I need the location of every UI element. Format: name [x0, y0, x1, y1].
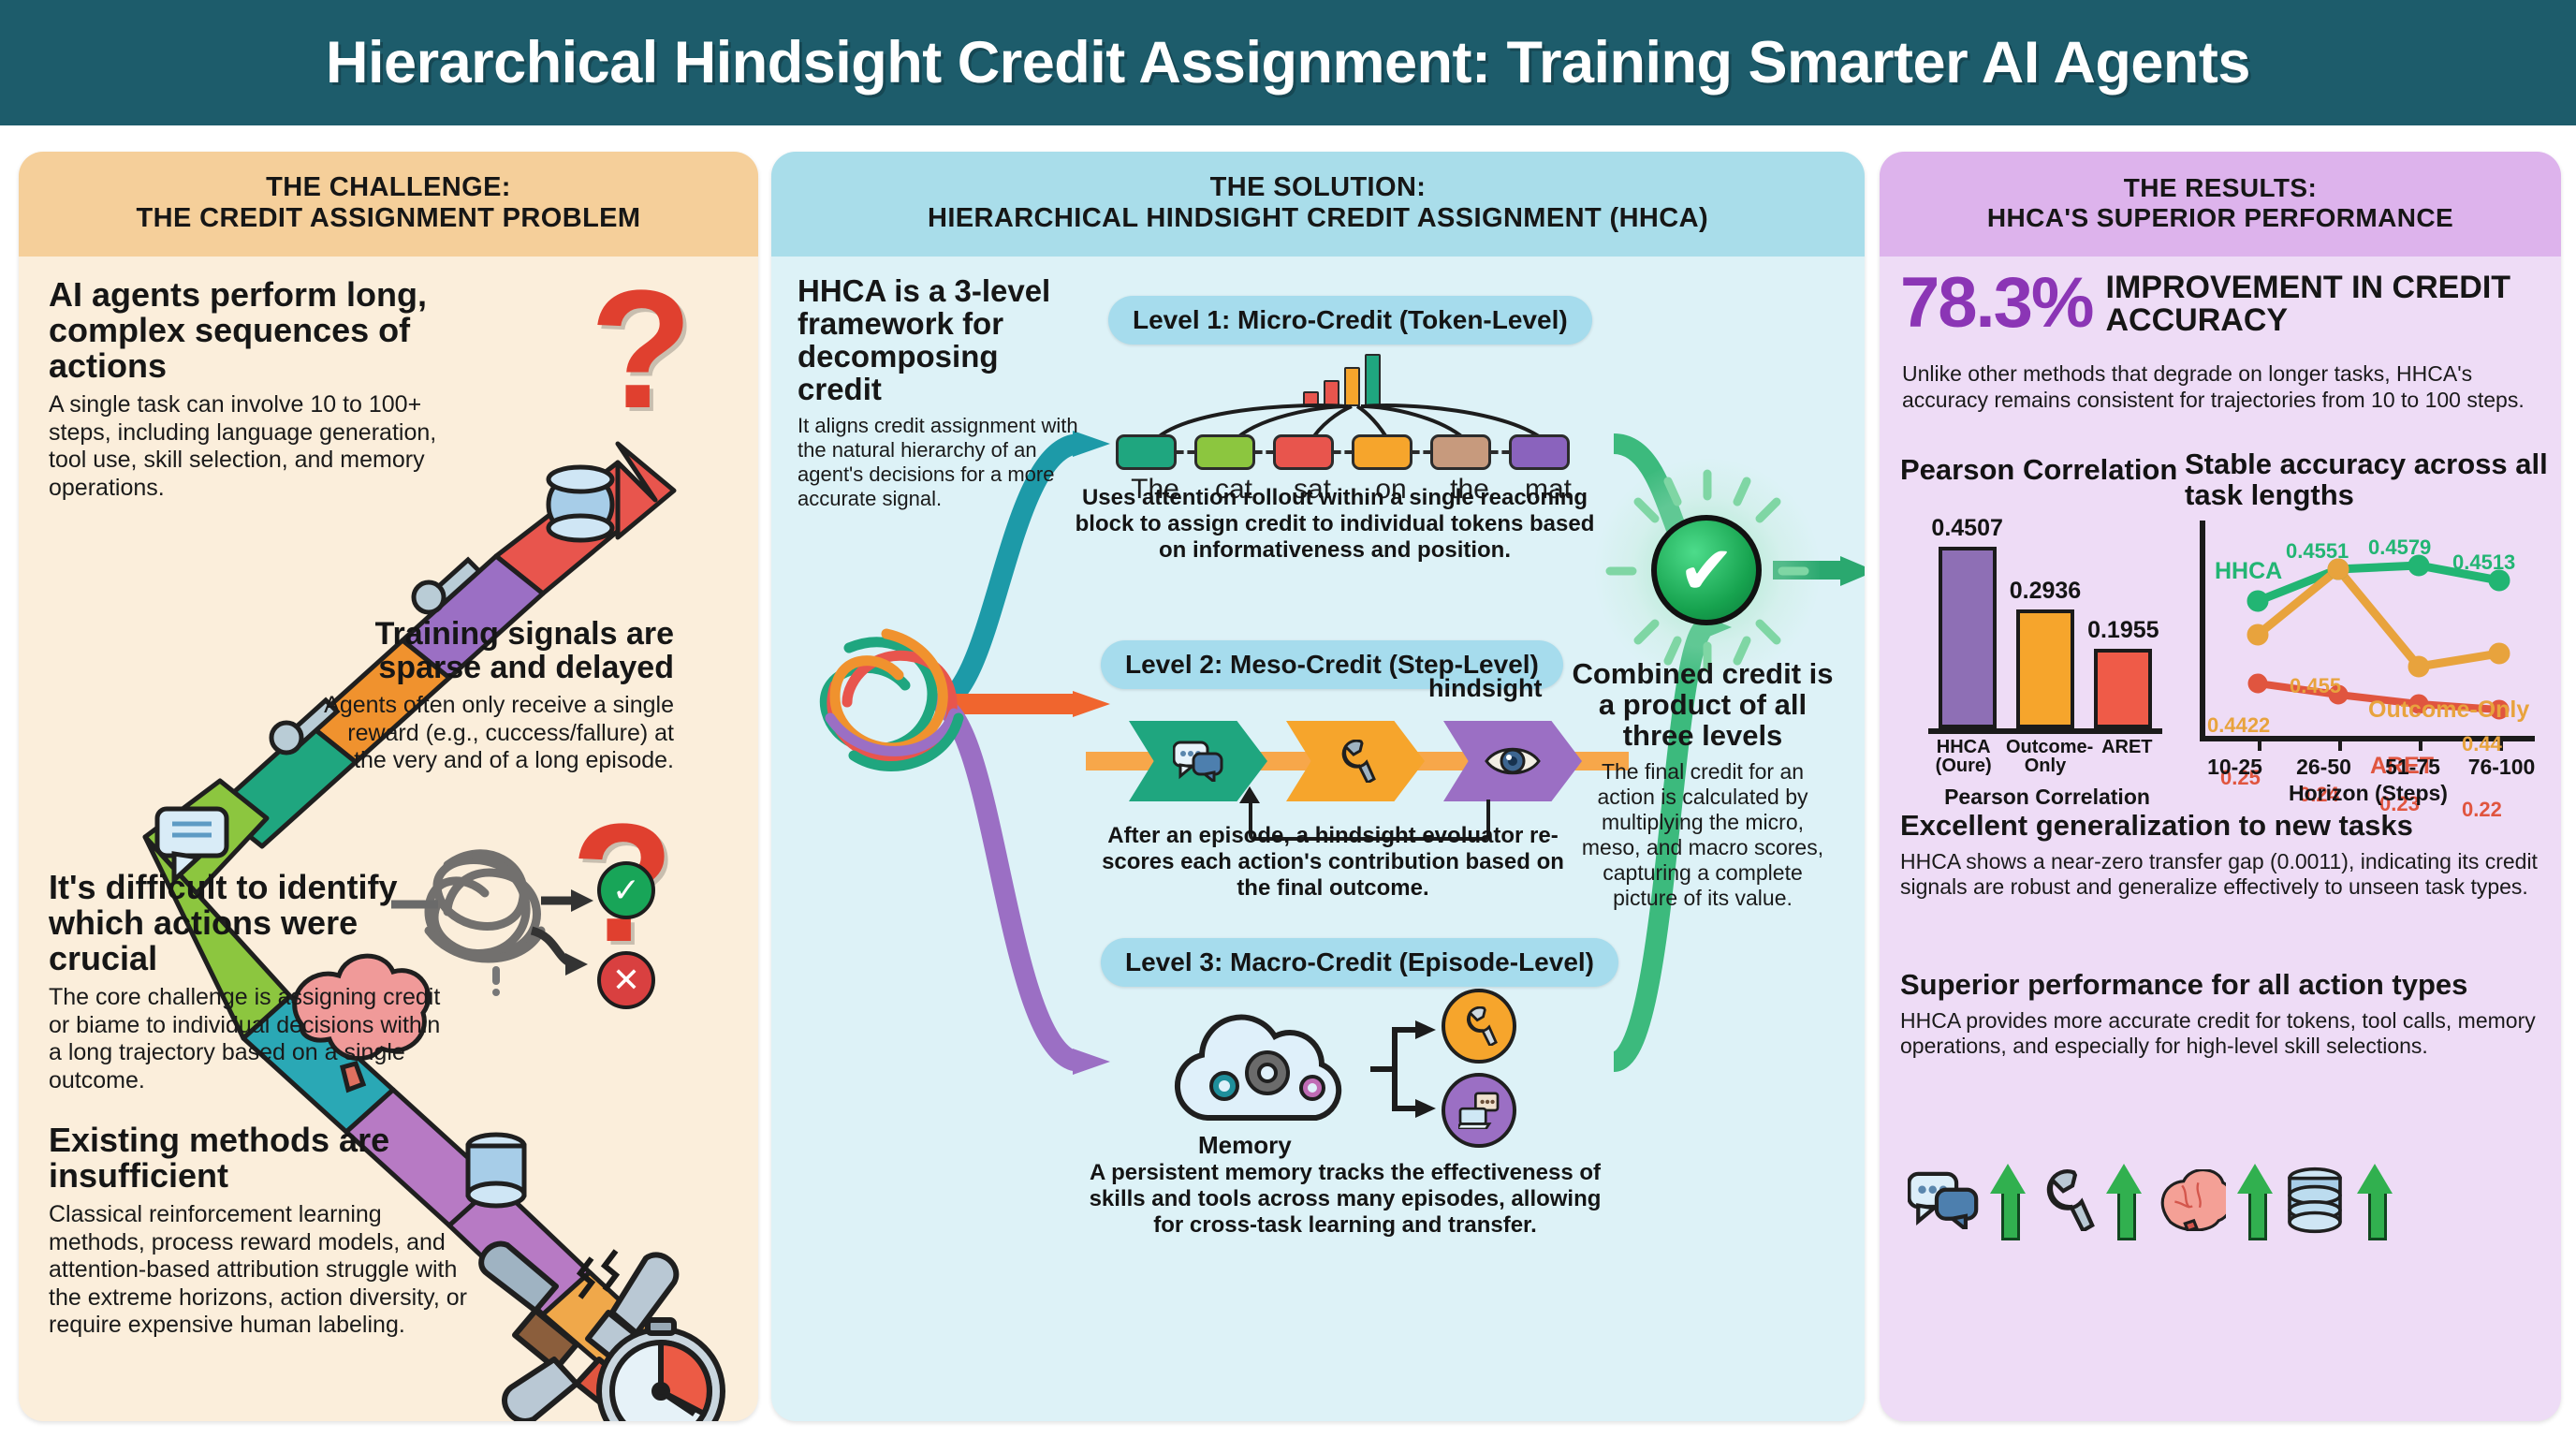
level-1-caption: Uses attention rollout within a single r… — [1073, 485, 1597, 563]
page-title: Hierarchical Hindsight Credit Assignment… — [326, 29, 2250, 96]
check-circle-icon: ✓ — [597, 861, 655, 919]
speech-bubble-icon — [1908, 1171, 1979, 1229]
challenge-block-2: Training signals are sparse and delayed … — [316, 617, 674, 775]
panel-challenge-title-line1: THE CHALLENGE: — [266, 172, 511, 203]
hindsight-feedback-arrowhead — [1239, 786, 1260, 803]
bar-value-label: 0.1955 — [2087, 617, 2159, 644]
challenge-block-2-body: Agents often only receive a single rewar… — [316, 692, 674, 775]
attention-minibars — [1303, 354, 1381, 406]
token-chip — [1352, 434, 1412, 470]
results-block-1-body: HHCA shows a near-zero transfer gap (0.0… — [1900, 849, 2550, 900]
x-circle-icon: ✕ — [597, 951, 655, 1009]
x-tick-label: 26-50 — [2279, 755, 2368, 780]
outcome-value-label: 0.44 — [2462, 732, 2502, 756]
memory-branch-arrows — [1367, 1013, 1442, 1125]
level-2-caption: After an episode, a hindsight evoluator … — [1090, 823, 1576, 901]
x-tick — [2258, 736, 2261, 751]
panel-solution: THE SOLUTION: HIERARCHICAL HINDSIGHT CRE… — [771, 152, 1865, 1421]
memory-label: Memory — [1198, 1131, 1292, 1160]
question-mark-icon-top: ? — [590, 266, 693, 434]
level-1-token-diagram: The cat sat on the mat — [1116, 354, 1612, 485]
token-link — [1334, 450, 1352, 454]
broken-tools-stopwatch-icon — [459, 1230, 739, 1421]
green-check-circle-icon: ✔ — [1651, 515, 1762, 625]
infographic-root: Hierarchical Hindsight Credit Assignment… — [0, 0, 2576, 1438]
x-tick-label: 76-100 — [2457, 755, 2546, 780]
token-chip — [1194, 434, 1255, 470]
panel-solution-body: HHCA is a 3-level framework for decompos… — [771, 257, 1865, 1421]
up-arrow-icon — [2110, 1166, 2138, 1235]
bar-category-label: HHCA (Oure) — [1925, 738, 2003, 776]
bar-category-label: ARET — [2087, 738, 2166, 776]
bar-chart-category-labels: HHCA (Oure) Outcome-Only ARET — [1923, 738, 2168, 776]
level-3-memory-diagram: Memory — [1108, 996, 1595, 1165]
challenge-block-1-heading: AI agents perform long, complex sequence… — [49, 277, 451, 384]
level-2-step-diagram: hindsight — [1129, 708, 1597, 820]
stat-value: 78.3% — [1900, 270, 2093, 337]
results-block-2: Superior performance for all action type… — [1900, 970, 2550, 1059]
speech-bubble-icon — [1173, 741, 1223, 782]
series-label-hhca: HHCA — [2215, 558, 2282, 585]
panel-results-header: THE RESULTS: HHCA'S SUPERIOR PERFORMANCE — [1880, 152, 2561, 257]
combined-credit-heading: Combined credit is a product of all thre… — [1572, 659, 1834, 752]
token-chip-row — [1116, 434, 1570, 470]
challenge-block-4: Existing methods are insufficient Classi… — [49, 1123, 470, 1340]
bar-value-label: 0.2936 — [2010, 578, 2081, 605]
x-tick-label: 10-25 — [2190, 755, 2279, 780]
database-icon — [2284, 1167, 2346, 1234]
tangled-threads-icon — [798, 610, 985, 798]
panel-challenge-header: THE CHALLENGE: THE CREDIT ASSIGNMENT PRO… — [19, 152, 758, 257]
line-chart-xlabel: Horizon (Steps) — [2190, 781, 2546, 806]
level-3-pill: Level 3: Macro-Credit (Episode-Level) — [1101, 938, 1618, 987]
panel-challenge-body: ? ? ✓ ✕ — [19, 257, 758, 1421]
panel-challenge: THE CHALLENGE: THE CREDIT ASSIGNMENT PRO… — [19, 152, 758, 1421]
stat-body: Unlike other methods that degrade on lon… — [1902, 361, 2548, 413]
combined-credit-body: The final credit for an action is calcul… — [1572, 759, 1834, 912]
x-tick — [2338, 736, 2342, 751]
wrench-icon — [1460, 1006, 1498, 1046]
results-block-2-heading: Superior performance for all action type… — [1900, 970, 2550, 1001]
headline-stat: 78.3% IMPROVEMENT IN CREDIT ACCURACY — [1900, 270, 2546, 337]
hhca-value-label: 0.4513 — [2452, 550, 2515, 575]
panel-solution-title-line1: THE SOLUTION: — [1210, 172, 1427, 203]
token-link — [1177, 450, 1194, 454]
brain-icon — [2153, 1169, 2226, 1231]
bar-chart-xlabel: Pearson Correlation — [1923, 785, 2172, 810]
bar-value-label: 0.4507 — [1931, 515, 2002, 542]
panel-solution-header: THE SOLUTION: HIERARCHICAL HINDSIGHT CRE… — [771, 152, 1865, 257]
solution-intro-body: It aligns credit assignment with the nat… — [798, 414, 1078, 511]
up-arrow-icon — [1994, 1166, 2022, 1235]
x-tick-label: 51-75 — [2368, 755, 2457, 780]
token-chip — [1273, 434, 1334, 470]
combined-credit-block: Combined credit is a product of all thre… — [1572, 659, 1834, 911]
bar-chart-plot: 0.4507 0.2936 0.1955 — [1928, 537, 2162, 734]
challenge-block-4-body: Classical reinforcement learning methods… — [49, 1201, 470, 1340]
bar-outcome-only: 0.2936 — [2016, 609, 2074, 728]
bar-chart-title: Pearson Correlation — [1900, 455, 2181, 486]
panel-results-body: 78.3% IMPROVEMENT IN CREDIT ACCURACY Unl… — [1880, 257, 2561, 1421]
challenge-block-3-body: The core challenge is assigning credit o… — [49, 984, 442, 1094]
outcome-value-label: 0.455 — [2290, 674, 2341, 698]
bar-aret: 0.1955 — [2094, 649, 2152, 728]
line-chart-title: Stable accuracy across all task lengths — [2185, 449, 2552, 511]
results-block-1-heading: Excellent generalization to new tasks — [1900, 811, 2550, 842]
token-chip — [1116, 434, 1177, 470]
token-chip — [1430, 434, 1491, 470]
presentation-icon — [1458, 1092, 1500, 1129]
up-arrow-icon — [2241, 1166, 2269, 1235]
line-chart-tick-labels: 10-25 26-50 51-75 76-100 — [2190, 755, 2546, 780]
x-tick — [2419, 736, 2422, 751]
token-link — [1255, 450, 1273, 454]
action-type-icon-row — [1908, 1144, 2544, 1256]
token-link — [1412, 450, 1430, 454]
solution-intro: HHCA is a 3-level framework for decompos… — [798, 275, 1078, 511]
hhca-value-label: 0.4579 — [2368, 536, 2431, 560]
panel-results-title-line1: THE RESULTS: — [2124, 173, 2318, 203]
series-label-outcome-only: Outcome-Only — [2368, 697, 2529, 724]
panel-solution-title-line2: HIERARCHICAL HINDSIGHT CREDIT ASSIGNMENT… — [928, 203, 1708, 234]
bar-hhca: 0.4507 — [1939, 547, 1997, 728]
challenge-block-3-heading: It's difficult to identify which actions… — [49, 870, 442, 976]
level-3-caption: A persistent memory tracks the effective… — [1078, 1160, 1612, 1238]
results-block-1: Excellent generalization to new tasks HH… — [1900, 811, 2550, 900]
outcome-value-label: 0.4422 — [2207, 713, 2270, 738]
accuracy-line-chart: Stable accuracy across all task lengths — [2185, 449, 2552, 798]
panel-results-title-line2: HHCA'S SUPERIOR PERFORMANCE — [1987, 203, 2453, 233]
challenge-block-4-heading: Existing methods are insufficient — [49, 1123, 470, 1194]
eye-icon — [1485, 743, 1541, 779]
challenge-block-1: AI agents perform long, complex sequence… — [49, 277, 451, 502]
hhca-value-label: 0.4551 — [2286, 539, 2349, 564]
memory-output-skill-icon — [1442, 1073, 1516, 1148]
cloud-gears-icon — [1163, 1005, 1368, 1129]
panel-challenge-title-line2: THE CREDIT ASSIGNMENT PROBLEM — [137, 203, 641, 234]
wrench-icon — [1335, 740, 1376, 783]
memory-output-tool-icon — [1442, 989, 1516, 1064]
stat-label: IMPROVEMENT IN CREDIT ACCURACY — [2106, 271, 2547, 336]
bar-category-label: Outcome-Only — [2006, 738, 2085, 776]
token-chip — [1509, 434, 1570, 470]
challenge-block-2-heading: Training signals are sparse and delayed — [316, 617, 674, 684]
solution-intro-heading: HHCA is a 3-level framework for decompos… — [798, 275, 1078, 406]
challenge-block-1-body: A single task can involve 10 to 100+ ste… — [49, 391, 451, 502]
hindsight-label: hindsight — [1428, 674, 1542, 703]
results-block-2-body: HHCA provides more accurate credit for t… — [1900, 1008, 2550, 1059]
token-link — [1491, 450, 1509, 454]
level-1-pill: Level 1: Micro-Credit (Token-Level) — [1108, 296, 1592, 345]
pearson-correlation-bar-chart: Pearson Correlation 0.4507 0.2936 0.1955… — [1900, 455, 2181, 783]
header-banner: Hierarchical Hindsight Credit Assignment… — [0, 0, 2576, 125]
up-arrow-icon — [2361, 1166, 2389, 1235]
panel-results: THE RESULTS: HHCA'S SUPERIOR PERFORMANCE… — [1880, 152, 2561, 1421]
wrench-icon — [2037, 1169, 2095, 1231]
challenge-block-3: It's difficult to identify which actions… — [49, 870, 442, 1094]
